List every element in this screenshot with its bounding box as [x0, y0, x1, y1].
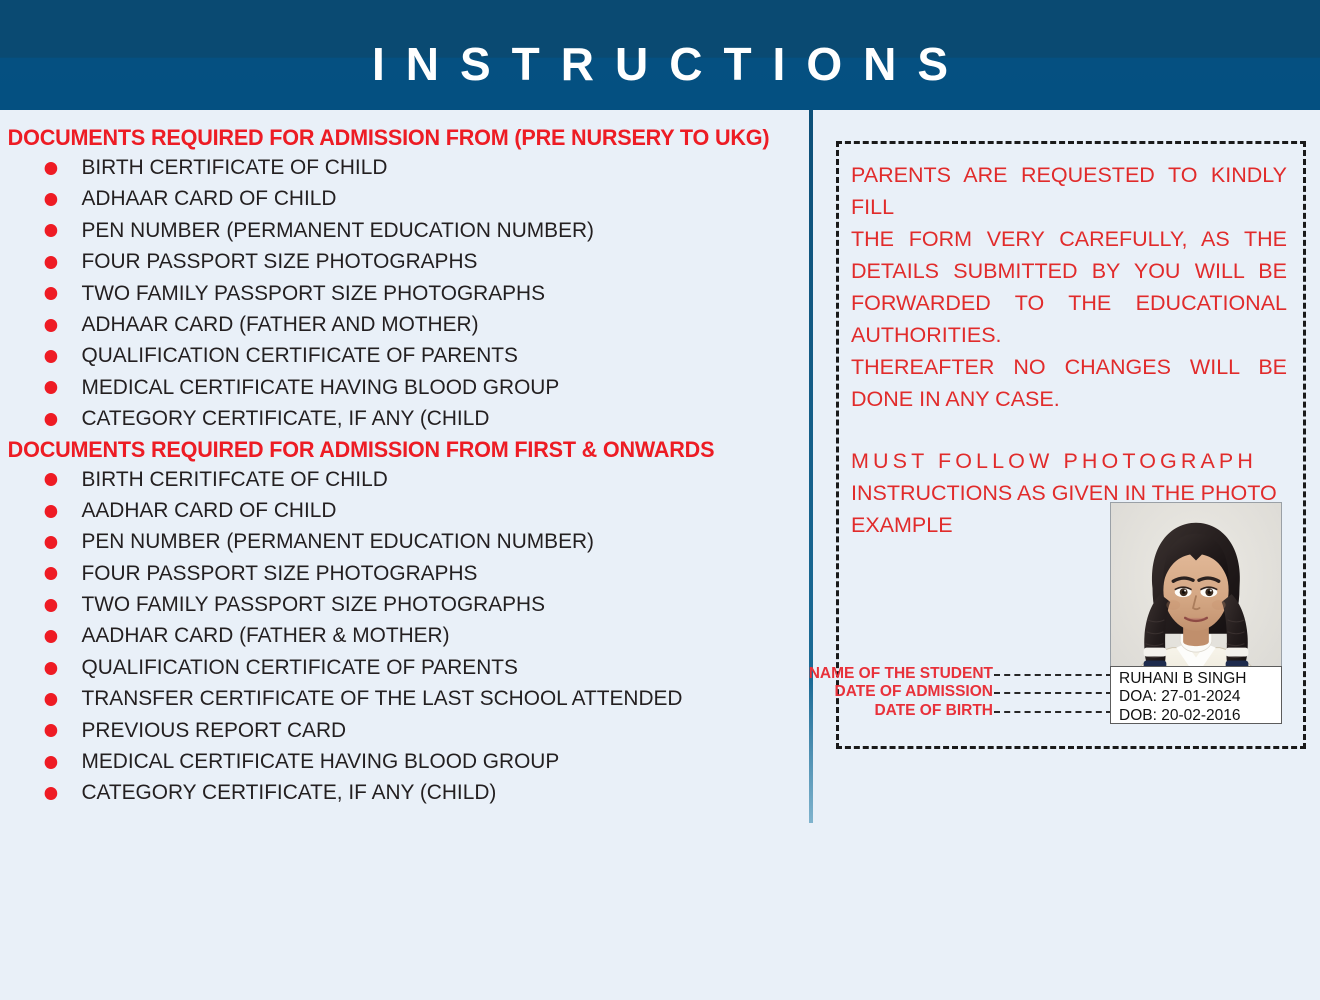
bullet-icon [45, 567, 58, 580]
list-item-label: BIRTH CERITIFCATE OF CHILD [81, 467, 387, 491]
list-item-label: FOUR PASSPORT SIZE PHOTOGRAPHS [81, 249, 477, 273]
notice-line: THEREAFTER NO CHANGES WILL BE [851, 351, 1287, 383]
bullet-icon [45, 724, 58, 737]
caption-date-of-admission: DOA: 27-01-2024 [1119, 688, 1281, 706]
bullet-icon [45, 505, 58, 518]
bullet-icon [45, 599, 58, 612]
list-item-label: FOUR PASSPORT SIZE PHOTOGRAPHS [81, 561, 477, 585]
list-item-label: CATEGORY CERTIFICATE, IF ANY (CHILD) [81, 780, 496, 804]
list-item-label: AADHAR CARD OF CHILD [81, 498, 336, 522]
column-divider [809, 110, 813, 823]
instructions-page: INSTRUCTIONS DOCUMENTS REQUIRED FOR ADMI… [0, 0, 1320, 1000]
list-item: FOUR PASSPORT SIZE PHOTOGRAPHS [0, 246, 776, 277]
list-item: ADHAAR CARD OF CHILD [0, 183, 776, 214]
bullet-icon [45, 473, 58, 486]
list-item: FOUR PASSPORT SIZE PHOTOGRAPHS [0, 558, 776, 589]
list-item-label: PEN NUMBER (PERMANENT EDUCATION NUMBER) [81, 529, 594, 553]
list-item: PEN NUMBER (PERMANENT EDUCATION NUMBER) [0, 526, 776, 557]
bullet-icon [45, 319, 58, 332]
list-item-label: TRANSFER CERTIFICATE OF THE LAST SCHOOL … [81, 686, 682, 710]
bullet-icon [45, 256, 58, 269]
bullet-icon [45, 224, 58, 237]
notice-line: AUTHORITIES. [851, 319, 1287, 351]
list-item: TWO FAMILY PASSPORT SIZE PHOTOGRAPHS [0, 278, 776, 309]
leader-dash-line [994, 711, 1112, 713]
list-item: TRANSFER CERTIFICATE OF THE LAST SCHOOL … [0, 683, 776, 714]
list-item-label: QUALIFICATION CERTIFICATE OF PARENTS [81, 655, 517, 679]
caption-date-of-birth: DOB: 20-02-2016 [1119, 707, 1281, 725]
bullet-icon [45, 787, 58, 800]
caption-student-name: RUHANI B SINGH [1119, 670, 1281, 688]
notice-line: FORWARDED TO THE EDUCATIONAL [851, 287, 1287, 319]
list-item-label: CATEGORY CERTIFICATE, IF ANY (CHILD [81, 406, 489, 430]
bullet-icon [45, 381, 58, 394]
list-item-label: MEDICAL CERTIFICATE HAVING BLOOD GROUP [81, 749, 559, 773]
leader-dash-line [994, 692, 1112, 694]
list-item-label: AADHAR CARD (FATHER & MOTHER) [81, 623, 449, 647]
notice-line: PARENTS ARE REQUESTED TO KINDLY FILL [851, 159, 1287, 223]
list-item: PEN NUMBER (PERMANENT EDUCATION NUMBER) [0, 215, 776, 246]
parents-notice: PARENTS ARE REQUESTED TO KINDLY FILL THE… [851, 159, 1287, 541]
list-item: AADHAR CARD (FATHER & MOTHER) [0, 620, 776, 651]
notice-line: DONE IN ANY CASE. [851, 383, 1287, 415]
bullet-icon [45, 162, 58, 175]
list-item: AADHAR CARD OF CHILD [0, 495, 776, 526]
bullet-icon [45, 193, 58, 206]
leader-row: NAME OF THE STUDENT [847, 665, 1112, 683]
bullet-icon [45, 536, 58, 549]
list-item: ADHAAR CARD (FATHER AND MOTHER) [0, 309, 776, 340]
photo-instruction-line-1: MUST FOLLOW PHOTOGRAPH [851, 445, 1287, 477]
notice-line: THE FORM VERY CAREFULLY, AS THE [851, 223, 1287, 255]
bullet-icon [45, 756, 58, 769]
bullet-icon [45, 693, 58, 706]
list-item: BIRTH CERTIFICATE OF CHILD [0, 152, 776, 183]
bullet-icon [45, 630, 58, 643]
leader-row: DATE OF ADMISSION [847, 683, 1112, 701]
list-item: CATEGORY CERTIFICATE, IF ANY (CHILD) [0, 777, 776, 808]
notice-line: DETAILS SUBMITTED BY YOU WILL BE [851, 255, 1287, 287]
list-item-label: PREVIOUS REPORT CARD [81, 718, 346, 742]
leader-label-dob: DATE OF BIRTH [874, 702, 993, 720]
notice-spacer [851, 415, 1287, 445]
list-item: MEDICAL CERTIFICATE HAVING BLOOD GROUP [0, 372, 776, 403]
documents-list-first-onwards: BIRTH CERITIFCATE OF CHILD AADHAR CARD O… [0, 464, 800, 809]
list-item-label: PEN NUMBER (PERMANENT EDUCATION NUMBER) [81, 218, 594, 242]
leader-label-name: NAME OF THE STUDENT [809, 665, 993, 683]
list-item: CATEGORY CERTIFICATE, IF ANY (CHILD [0, 403, 776, 434]
page-title: INSTRUCTIONS [0, 36, 1320, 92]
list-item: QUALIFICATION CERTIFICATE OF PARENTS [0, 340, 776, 371]
list-item: TWO FAMILY PASSPORT SIZE PHOTOGRAPHS [0, 589, 776, 620]
bullet-icon [45, 413, 58, 426]
bullet-icon [45, 350, 58, 363]
documents-list-pre-nursery: BIRTH CERTIFICATE OF CHILD ADHAAR CARD O… [0, 152, 800, 435]
leader-dash-line [994, 674, 1112, 676]
documents-column: DOCUMENTS REQUIRED FOR ADMISSION FROM (P… [0, 110, 800, 840]
list-item-label: BIRTH CERTIFICATE OF CHILD [81, 155, 387, 179]
page-header: INSTRUCTIONS [0, 0, 1320, 110]
list-item: BIRTH CERITIFCATE OF CHILD [0, 464, 776, 495]
notice-panel: PARENTS ARE REQUESTED TO KINDLY FILL THE… [836, 141, 1306, 749]
bullet-icon [45, 662, 58, 675]
list-item: MEDICAL CERTIFICATE HAVING BLOOD GROUP [0, 746, 776, 777]
list-item-label: TWO FAMILY PASSPORT SIZE PHOTOGRAPHS [81, 281, 545, 305]
photo-caption-box: RUHANI B SINGH DOA: 27-01-2024 DOB: 20-0… [1110, 666, 1282, 724]
section-heading-first-onwards: DOCUMENTS REQUIRED FOR ADMISSION FROM FI… [0, 436, 768, 464]
list-item: PREVIOUS REPORT CARD [0, 715, 776, 746]
list-item-label: MEDICAL CERTIFICATE HAVING BLOOD GROUP [81, 375, 559, 399]
list-item-label: ADHAAR CARD OF CHILD [81, 186, 336, 210]
bullet-icon [45, 287, 58, 300]
leader-row: DATE OF BIRTH [847, 702, 1112, 720]
list-item-label: TWO FAMILY PASSPORT SIZE PHOTOGRAPHS [81, 592, 545, 616]
leader-label-doa: DATE OF ADMISSION [835, 683, 993, 701]
section-heading-pre-nursery: DOCUMENTS REQUIRED FOR ADMISSION FROM (P… [0, 124, 768, 152]
photo-leader-labels: NAME OF THE STUDENT DATE OF ADMISSION DA… [847, 665, 1112, 720]
list-item-label: ADHAAR CARD (FATHER AND MOTHER) [81, 312, 478, 336]
list-item-label: QUALIFICATION CERTIFICATE OF PARENTS [81, 343, 517, 367]
list-item: QUALIFICATION CERTIFICATE OF PARENTS [0, 652, 776, 683]
